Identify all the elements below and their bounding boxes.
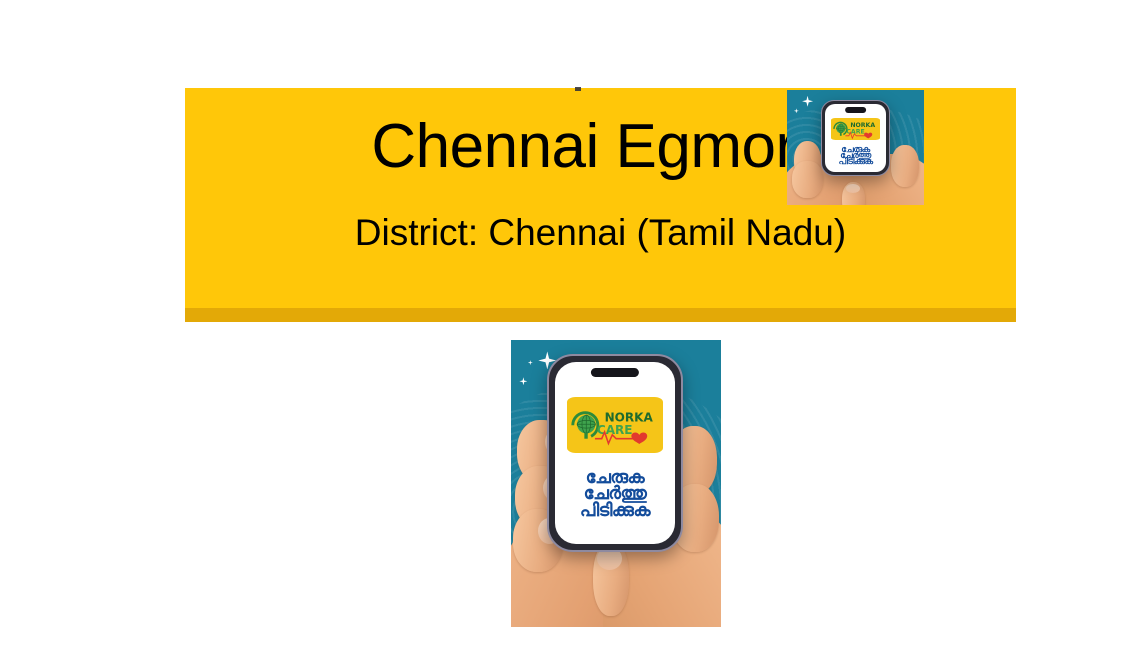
svg-text:CARE: CARE: [597, 423, 633, 437]
tagline-line-3: പിടിക്കുക: [555, 501, 676, 519]
sparkle-icon: [802, 96, 813, 107]
finger-illustration: [792, 161, 822, 198]
norka-care-logo-card: NORKA CARE: [567, 397, 663, 453]
sparkle-icon: [519, 377, 527, 385]
sparkle-icon: [528, 360, 533, 365]
slide-canvas: Chennai Egmore District: Chennai (Tamil …: [0, 0, 1121, 656]
finger-illustration: [891, 145, 918, 186]
norka-care-logo-icon: NORKA CARE: [831, 118, 881, 140]
district-subtitle: District: Chennai (Tamil Nadu): [185, 214, 1016, 251]
title-banner: Chennai Egmore District: Chennai (Tamil …: [185, 88, 1016, 308]
smartphone-illustration: NORKA CARE ചേരുക ചേർത്തു പിടിക്കുക: [821, 100, 890, 176]
banner-bottom-shadow: [185, 308, 1016, 322]
banner-artifact-speck: [575, 87, 581, 91]
tagline-line-3: പിടിക്കുക: [825, 157, 886, 166]
norka-care-logo-card: NORKA CARE: [831, 118, 881, 140]
norka-care-logo-icon: NORKA CARE: [567, 397, 663, 453]
phone-notch: [591, 368, 639, 377]
phone-screen: NORKA CARE ചേരുക ചേർത്തു പിടിക്കുക: [825, 104, 886, 172]
svg-text:NORKA: NORKA: [850, 122, 875, 129]
norka-poster-thumbnail: NORKA CARE ചേരുക ചേർത്തു പിടിക്കുക: [787, 90, 924, 205]
svg-text:NORKA: NORKA: [604, 410, 653, 424]
norka-poster-image[interactable]: NORKA CARE ചേരുക ചേർത്തു പിടിക്കുക: [511, 340, 721, 627]
smartphone-illustration: NORKA CARE ചേരുക ചേർത്തു പിടിക്കുക: [547, 354, 684, 552]
phone-notch: [845, 107, 867, 113]
phone-screen: NORKA CARE ചേരുക ചേർത്തു പിടിക്കുക: [555, 362, 676, 544]
